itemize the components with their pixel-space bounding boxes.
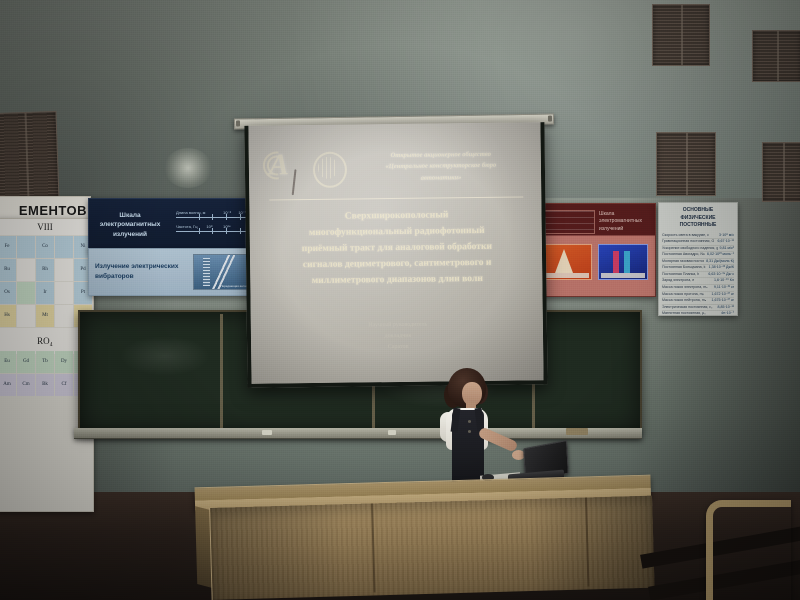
constant-name: Масса покоя протона, mₚ [662, 292, 710, 298]
periodic-table-group-label: VIII [0, 219, 93, 235]
lecture-hall-photo: ЕМЕНТОВ VIII FeCoNiRuRhPdOsIrPtHsMtDsRO₄… [0, 0, 800, 600]
eraser [566, 428, 588, 435]
constant-value: 9,11·10⁻³¹ кг [714, 285, 734, 291]
periodic-table-cell: Hs [0, 305, 16, 327]
periodic-table-cell [17, 236, 35, 258]
presentation-slide: A Открытое акционерное общество «Централ… [248, 122, 543, 384]
constant-name: Постоянная Авогадро, Nᴀ [662, 252, 705, 258]
constant-name: Постоянная Планка, h [662, 272, 706, 278]
projection-screen[interactable]: A Открытое акционерное общество «Централ… [244, 122, 547, 388]
periodic-table-cell: Ru [0, 259, 16, 281]
poster-electric-vibrators: Излучение электрических вибраторов Перед… [88, 248, 258, 296]
constant-row: Магнитная постоянная, μ₀4π·10⁻⁷ [662, 311, 734, 316]
logo-letter: A [269, 150, 289, 180]
constant-name: Заряд электрона, e [662, 278, 712, 284]
company-logo-globe-icon [311, 148, 345, 188]
ventilation-grille-icon [656, 132, 716, 196]
poster-electric-vibrators-title: Излучение электрических вибраторов [89, 262, 193, 282]
periodic-table-cell: Fe [0, 236, 16, 258]
chalk-piece [262, 430, 272, 435]
slide-title: Сверхширокополосный многофункциональный … [261, 206, 532, 290]
constant-name: Масса покоя электрона, mₑ [662, 285, 712, 291]
constant-value: 1,6·10⁻¹⁹ Кл [714, 278, 734, 284]
constant-value: 3·10⁸ м/с [719, 233, 734, 239]
periodic-table-cell: Mt [36, 305, 54, 327]
slide-footer: Научный руководитель докладчик Саратов [269, 318, 527, 354]
periodic-table-cell: Tb [36, 351, 54, 373]
ceiling-lamp-glow-icon [164, 148, 212, 188]
antenna-photo: Передающая антенна [193, 254, 253, 290]
constant-name: Гравитационная постоянная, G [662, 239, 716, 245]
periodic-table-cell: Eu [0, 351, 16, 373]
periodic-table-cell [55, 236, 73, 258]
constant-value: 8,31 Дж/(моль·К) [706, 259, 734, 265]
constant-value: 1,38·10⁻²³ Дж/К [709, 265, 734, 271]
periodic-table-cell [55, 282, 73, 304]
constant-name: Электрическая постоянная, ε₀ [662, 305, 716, 311]
constant-name: Постоянная Больцмана, k [662, 265, 707, 271]
constant-name: Магнитная постоянная, μ₀ [662, 311, 719, 316]
periodic-table-cell [55, 259, 73, 281]
company-logo-a-icon: A [263, 148, 303, 188]
chalk-piece [388, 430, 396, 435]
screen-bracket-left [236, 120, 240, 126]
constant-value: 6,02·10²³ моль⁻¹ [707, 252, 734, 258]
chalk-tray [74, 428, 642, 439]
em-scale-row1-caption: Длина волны, м [176, 210, 205, 215]
periodic-table-cell: Cf [55, 374, 73, 396]
constant-name: Масса покоя нейтрона, mₙ [662, 298, 710, 304]
periodic-table-cell: Co [36, 236, 54, 258]
periodic-table-cell: Ir [36, 282, 54, 304]
constant-value: 6,63·10⁻³⁴ Дж·с [708, 272, 734, 278]
constant-name: Ускорение свободного падения, g [662, 246, 718, 252]
constant-value: 6,67·10⁻¹¹ [718, 239, 734, 245]
red-poster-table [541, 210, 595, 234]
periodic-table-cell: Dy [55, 351, 73, 373]
ventilation-grille-icon [0, 111, 60, 201]
poster-image-orange [542, 244, 592, 280]
ventilation-grille-icon [652, 4, 710, 66]
poster-right-red: Шкала электромагнитных излучений [536, 203, 656, 297]
constant-value: 8,85·10⁻¹² [718, 305, 734, 311]
slide-header: A Открытое акционерное общество «Централ… [263, 138, 530, 195]
periodic-table-cell [17, 259, 35, 281]
button [468, 430, 471, 433]
constant-value: 1,675·10⁻²⁷ кг [712, 298, 734, 304]
ventilation-grille-icon [762, 142, 800, 202]
periodic-table-cell [55, 305, 73, 327]
constant-name: Молярная газовая постоянная, R [662, 259, 704, 265]
periodic-table-cell: Am [0, 374, 16, 396]
periodic-table-cell [17, 305, 35, 327]
periodic-table-cell [17, 282, 35, 304]
slide-organization-name: Открытое акционерное общество «Центральн… [353, 148, 529, 184]
periodic-table-cell: Os [0, 282, 16, 304]
constant-value: 9,81 м/с² [720, 246, 734, 252]
screen-bracket-right [548, 116, 552, 122]
button [468, 420, 471, 423]
periodic-table-cell: Rh [36, 259, 54, 281]
lectern-desk [195, 475, 654, 598]
red-poster-title: Шкала электромагнитных излучений [599, 211, 651, 234]
poster-physical-constants: ОСНОВНЫЕ ФИЗИЧЕСКИЕ ПОСТОЯННЫЕ Скорость … [658, 202, 738, 316]
ventilation-grille-icon [752, 30, 800, 82]
em-scale-row2-caption: Частота, Гц [176, 224, 198, 229]
em-spectrum-scale-diagram: Длина волны, м 10⁻⁶10⁻⁹ Частота, Гц 10⁸1… [171, 207, 257, 243]
constant-value: 1,672·10⁻²⁷ кг [712, 292, 734, 298]
periodic-table-cell: Gd [17, 351, 35, 373]
periodic-table-cell: Bk [36, 374, 54, 396]
poster-em-spectrum-scale: Шкала электромагнитных излучений Длина в… [88, 198, 258, 252]
poster-image-blue [598, 244, 648, 280]
poster-em-spectrum-title: Шкала электромагнитных излучений [89, 211, 171, 239]
constant-value: 4π·10⁻⁷ [721, 311, 734, 316]
constants-title: ОСНОВНЫЕ ФИЗИЧЕСКИЕ ПОСТОЯННЫЕ [662, 207, 734, 230]
slide-divider [269, 196, 523, 200]
periodic-table-cell: Cm [17, 374, 35, 396]
constant-name: Скорость света в вакууме, c [662, 233, 717, 239]
stair-handrail [706, 500, 791, 600]
